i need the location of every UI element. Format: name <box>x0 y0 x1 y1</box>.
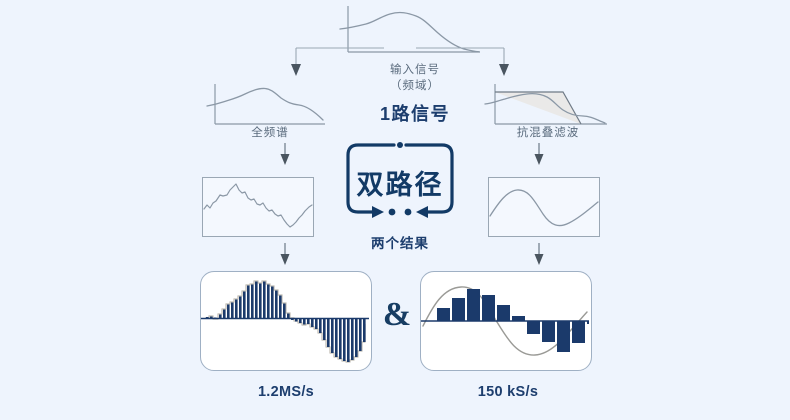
label-one-path-text: 1路信号 <box>380 104 450 124</box>
filtered-sine-svg <box>489 178 599 236</box>
ampersand-symbol: & <box>380 298 414 332</box>
right-down-arrow-2-svg <box>530 243 548 267</box>
top-notch-dot <box>397 142 403 148</box>
split-connector-svg <box>280 38 520 80</box>
arrowhead-inward-left <box>372 206 384 218</box>
right-down-arrow-svg <box>530 143 548 167</box>
left-down-arrow-svg <box>276 143 294 167</box>
label-anti-alias: 抗混叠滤波 <box>478 126 618 141</box>
label-rate-slow-text: 150 kS/s <box>478 384 538 400</box>
split-connector-arrows <box>280 38 520 80</box>
label-two-results: 两个结果 <box>330 232 470 252</box>
arrowhead <box>535 254 544 265</box>
bars-positive <box>206 282 290 319</box>
arrowhead <box>281 154 290 165</box>
arrowhead <box>281 254 290 265</box>
chart-filtered-sine-time <box>488 177 600 237</box>
label-input-signal-line2: （频域） <box>390 80 440 92</box>
label-dual-path: 双路径 <box>344 163 456 202</box>
right-down-arrow-2 <box>530 243 548 267</box>
label-dual-path-text: 双路径 <box>357 170 444 200</box>
label-two-results-text: 两个结果 <box>371 236 429 251</box>
anti-alias-svg <box>485 82 615 130</box>
sine-waveform <box>490 190 598 226</box>
left-down-arrow <box>276 143 294 167</box>
sampled-slow-svg <box>421 272 589 368</box>
label-rate-fast: 1.2MS/s <box>206 384 366 400</box>
full-spectrum-svg <box>205 82 335 130</box>
arrowhead <box>535 154 544 165</box>
left-down-arrow-2 <box>276 243 294 267</box>
full-spectrum-time-svg <box>203 178 313 236</box>
bars-positive <box>437 289 525 321</box>
bars-negative <box>527 321 589 352</box>
arrowhead-left <box>291 64 301 76</box>
chart-full-spectrum <box>205 82 335 130</box>
chart-sampled-slow <box>420 271 592 371</box>
time-waveform <box>204 184 312 227</box>
path-dot-2 <box>405 209 412 216</box>
left-down-arrow-2-svg <box>276 243 294 267</box>
label-rate-fast-text: 1.2MS/s <box>258 384 314 400</box>
arrowhead-right <box>499 64 509 76</box>
chart-anti-alias-filter <box>485 82 615 130</box>
right-down-arrow <box>530 143 548 167</box>
label-full-spectrum: 全频谱 <box>200 126 340 141</box>
arrowhead-inward-right <box>416 206 428 218</box>
label-input-signal-sub: （频域） <box>330 79 500 94</box>
diagram-canvas: 输入信号 （频域） 1路信号 全频谱 <box>0 0 790 420</box>
path-dot-1 <box>389 209 396 216</box>
spectrum-curve <box>207 88 323 120</box>
filter-shading <box>495 92 581 124</box>
label-anti-alias-text: 抗混叠滤波 <box>517 127 580 139</box>
chart-full-spectrum-time <box>202 177 314 237</box>
label-full-spectrum-text: 全频谱 <box>251 127 289 139</box>
label-one-path: 1路信号 <box>330 100 500 126</box>
label-rate-slow: 150 kS/s <box>428 384 588 400</box>
ampersand-text: & <box>383 296 411 333</box>
chart-sampled-fast <box>200 271 372 371</box>
sampled-fast-svg <box>201 272 369 368</box>
